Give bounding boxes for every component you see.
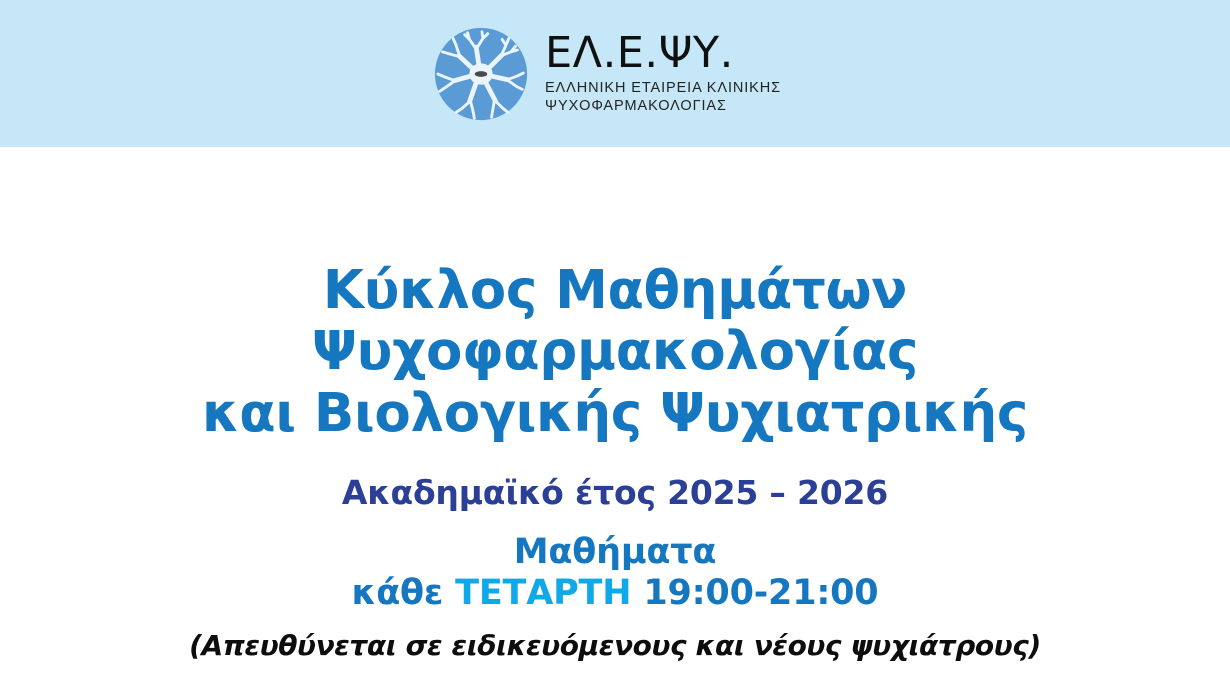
schedule-heading: Μαθήματα bbox=[0, 532, 1230, 573]
header-band: ΕΛ.Ε.ΨΥ. ΕΛΛΗΝΙΚΗ ΕΤΑΙΡΕΙΑ ΚΛΙΝΙΚΗΣ ΨΥΧΟ… bbox=[0, 0, 1230, 147]
organization-logo-lockup: ΕΛ.Ε.ΨΥ. ΕΛΛΗΝΙΚΗ ΕΤΑΙΡΕΙΑ ΚΛΙΝΙΚΗΣ ΨΥΧΟ… bbox=[433, 26, 781, 122]
neuron-logo-icon bbox=[433, 26, 529, 122]
schedule-time: 19:00-21:00 bbox=[631, 573, 878, 613]
schedule-prefix: κάθε bbox=[352, 573, 456, 613]
audience-note: (Απευθύνεται σε ειδικευόμενους και νέους… bbox=[0, 614, 1230, 662]
organization-full-name: ΕΛΛΗΝΙΚΗ ΕΤΑΙΡΕΙΑ ΚΛΙΝΙΚΗΣ ΨΥΧΟΦΑΡΜΑΚΟΛΟ… bbox=[545, 79, 781, 115]
course-title-line-1: Κύκλος Μαθημάτων bbox=[0, 260, 1230, 321]
course-title-line-3: και Βιολογικής Ψυχιατρικής bbox=[0, 383, 1230, 444]
academic-year-label: Ακαδημαϊκό έτος 2025 – 2026 bbox=[0, 444, 1230, 511]
schedule-day: ΤΕΤΑΡΤΗ bbox=[455, 573, 631, 613]
organization-acronym: ΕΛ.Ε.ΨΥ. bbox=[545, 32, 781, 76]
logo-wordmark: ΕΛ.Ε.ΨΥ. ΕΛΛΗΝΙΚΗ ΕΤΑΙΡΕΙΑ ΚΛΙΝΙΚΗΣ ΨΥΧΟ… bbox=[545, 32, 781, 115]
course-title: Κύκλος Μαθημάτων Ψυχοφαρμακολογίας και Β… bbox=[0, 147, 1230, 444]
schedule-block: Μαθήματα κάθε ΤΕΤΑΡΤΗ 19:00-21:00 bbox=[0, 512, 1230, 615]
course-title-line-2: Ψυχοφαρμακολογίας bbox=[0, 321, 1230, 382]
organization-full-name-line-1: ΕΛΛΗΝΙΚΗ ΕΤΑΙΡΕΙΑ ΚΛΙΝΙΚΗΣ bbox=[545, 79, 781, 97]
organization-full-name-line-2: ΨΥΧΟΦΑΡΜΑΚΟΛΟΓΙΑΣ bbox=[545, 97, 781, 115]
poster-content: Κύκλος Μαθημάτων Ψυχοφαρμακολογίας και Β… bbox=[0, 147, 1230, 690]
schedule-detail: κάθε ΤΕΤΑΡΤΗ 19:00-21:00 bbox=[0, 573, 1230, 614]
